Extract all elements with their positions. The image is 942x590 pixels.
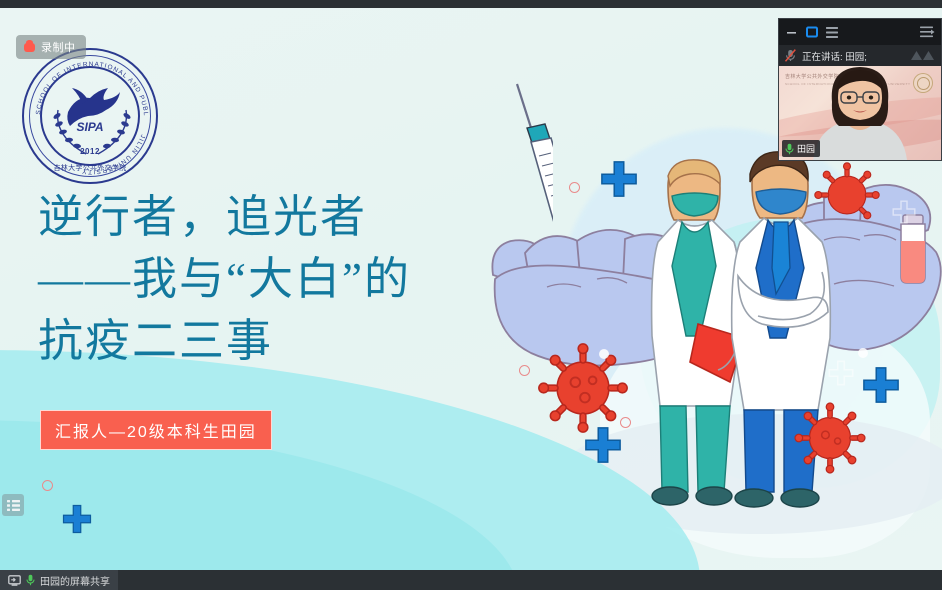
school-emblem: SCHOOL OF INTERNATIONAL AND PUBLIC AFFAI… [22, 48, 158, 184]
video-panel-titlebar[interactable] [779, 19, 941, 45]
emblem-acronym: SIPA [24, 120, 156, 134]
maximize-icon[interactable] [805, 26, 818, 39]
participant-portrait [805, 66, 915, 160]
layout-list-icon[interactable] [825, 26, 838, 39]
recording-badge: 录制中 [16, 35, 86, 59]
emblem-year: 2012 [24, 147, 156, 156]
audio-wave-icon [911, 50, 935, 61]
recording-label: 录制中 [41, 39, 76, 55]
speaking-text: 正在讲话: 田园; [802, 49, 905, 63]
emblem-chinese-name: 吉林大学公共外交学院 [24, 163, 156, 173]
participant-video-tile[interactable]: 吉林大学公共外交学院 SCHOOL OF INTERNATIONAL AND P… [779, 66, 941, 160]
monitor-share-icon [8, 575, 21, 586]
app-root: 录制中 SCHOOL OF INTERNATIONAL AND PUBLIC A… [0, 0, 942, 590]
mic-muted-icon [785, 49, 796, 62]
medical-cross-icon [600, 160, 638, 198]
decor-dot [519, 365, 530, 376]
slide-title: 逆行者，追光者 ——我与“大白”的 抗疫二三事 [38, 186, 411, 372]
mic-on-icon [26, 574, 35, 586]
screen-share-taskbar-item[interactable]: 田园的屏幕共享 [0, 570, 118, 590]
bottom-taskbar: 田园的屏幕共享 [0, 570, 942, 590]
coronavirus-icon [792, 400, 868, 476]
medical-cross-icon [62, 504, 92, 534]
presenter-banner: 汇报人—20级本科生田园 [40, 410, 272, 450]
medical-cross-icon [862, 366, 900, 404]
title-line-2: ——我与“大白”的 [38, 248, 411, 310]
title-line-1: 逆行者，追光者 [38, 186, 411, 248]
decor-dot [42, 480, 53, 491]
coronavirus-icon [812, 160, 882, 230]
speaking-status-bar: 正在讲话: 田园; [779, 45, 941, 66]
decor-dot [620, 417, 631, 428]
video-panel[interactable]: 正在讲话: 田园; 吉林大学公共外交学院 SCHOOL OF INTERNATI… [778, 18, 942, 161]
decor-dot [569, 182, 580, 193]
slide-list-button[interactable] [2, 494, 24, 516]
medical-cross-icon [892, 200, 916, 224]
mic-on-icon [785, 143, 794, 155]
participant-name: 田园 [797, 142, 815, 155]
screen-share-label: 田园的屏幕共享 [40, 573, 110, 588]
coronavirus-icon [535, 340, 631, 436]
decor-dot [858, 348, 868, 358]
minimize-icon[interactable] [785, 26, 798, 39]
record-cloud-icon [24, 43, 35, 52]
medical-cross-icon [828, 360, 854, 386]
decor-dot [599, 349, 609, 359]
gold-seal-inner [917, 77, 930, 90]
gold-seal-icon [913, 73, 933, 93]
list-icon [7, 500, 20, 511]
participant-nametag: 田园 [782, 140, 820, 157]
medical-cross-icon [584, 426, 622, 464]
title-line-3: 抗疫二三事 [38, 310, 411, 372]
panel-menu-icon[interactable] [919, 26, 935, 39]
